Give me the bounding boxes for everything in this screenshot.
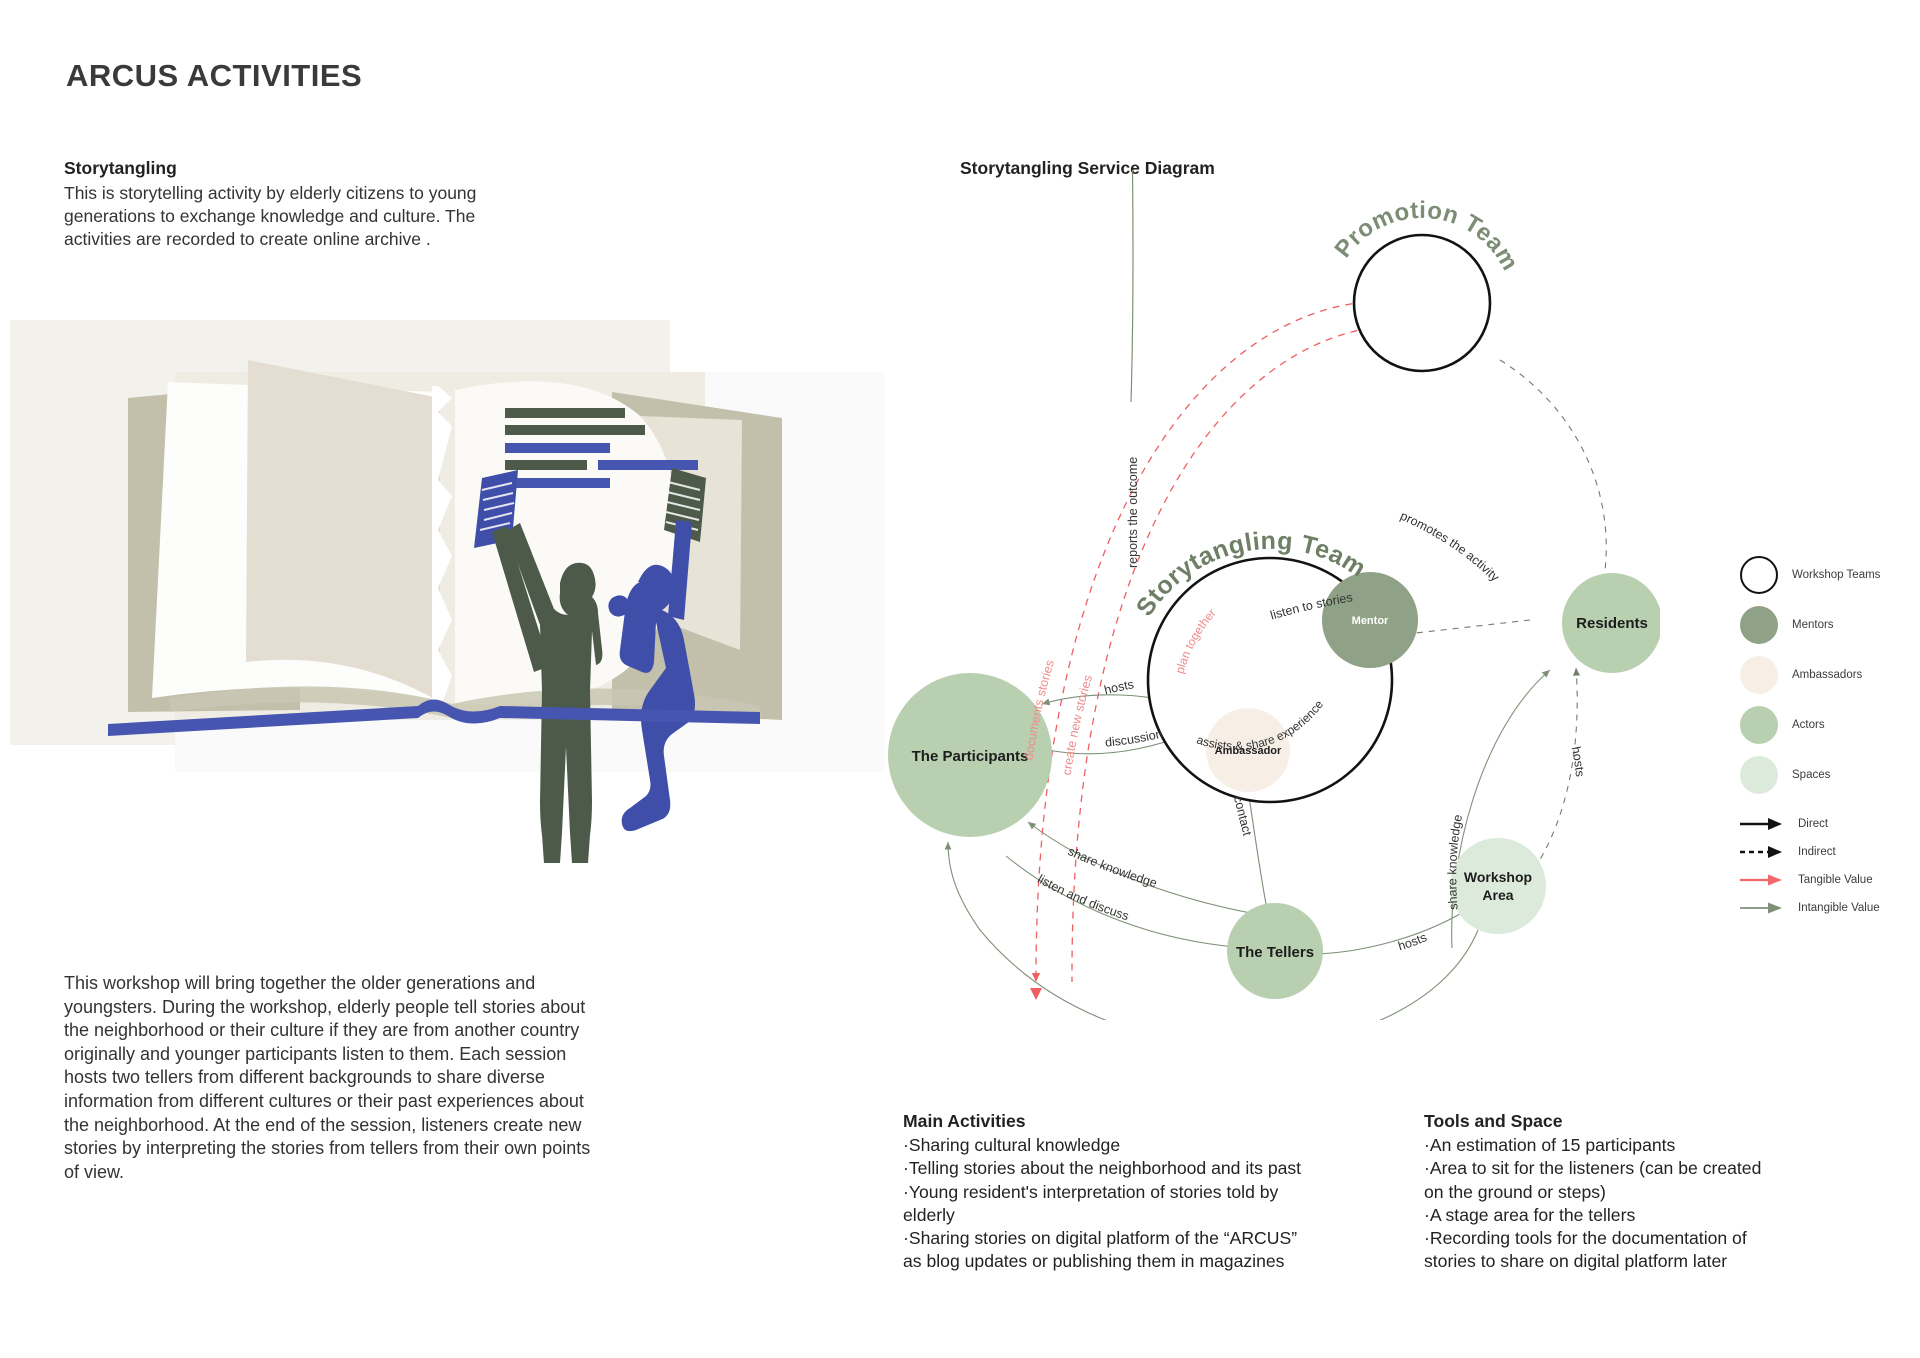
tools-and-space-block: Tools and Space ·An estimation of 15 par… xyxy=(1424,1110,1854,1273)
legend-item-spaces: Spaces xyxy=(1740,750,1920,800)
page-text-line-2 xyxy=(505,425,645,435)
legend-item-actors: Actors xyxy=(1740,700,1920,750)
edge-hosts-bottom-arc xyxy=(948,842,1478,1020)
arrow-indirect-icon xyxy=(1740,844,1784,860)
legend-item-mentors: Mentors xyxy=(1740,600,1920,650)
arrow-intangible-value-icon xyxy=(1740,900,1784,916)
legend-label-spaces: Spaces xyxy=(1792,769,1830,781)
storytangling-heading: Storytangling xyxy=(64,158,177,179)
legend-label-intangible-value: Intangible Value xyxy=(1798,902,1880,914)
edge-arrow-to-participants xyxy=(1030,988,1042,1000)
node-label-the-participants: The Participants xyxy=(912,748,1029,765)
legend-label-direct: Direct xyxy=(1798,818,1828,830)
edge-label-hosts-residents: hosts xyxy=(1569,745,1587,777)
legend-item-tangible-value: Tangible Value xyxy=(1740,866,1920,894)
legend-shapes: Workshop Teams Mentors Ambassadors Actor… xyxy=(1740,550,1920,800)
legend-swatch-mentors xyxy=(1740,606,1778,644)
edge-label-share-knowledge-tellers: share knowledge xyxy=(1066,844,1159,890)
arrow-tangible-value-icon xyxy=(1740,872,1784,888)
workshop-description: This workshop will bring together the ol… xyxy=(64,972,739,1184)
legend-item-workshop-teams: Workshop Teams xyxy=(1740,550,1920,600)
edge-share-knowledge-tellers xyxy=(1028,822,1256,914)
tools-and-space-list: ·An estimation of 15 participants ·Area … xyxy=(1424,1135,1761,1271)
page-text-line-3 xyxy=(505,443,610,453)
legend-label-indirect: Indirect xyxy=(1798,846,1836,858)
main-activities-list: ·Sharing cultural knowledge ·Telling sto… xyxy=(903,1135,1301,1271)
storytangling-illustration xyxy=(0,320,890,910)
edge-hosts-tellers xyxy=(1310,914,1460,954)
legend-arrows: Direct Indirect Tangible Value Intangibl… xyxy=(1740,810,1920,922)
node-workshop-area xyxy=(1450,838,1546,934)
edge-label-promotes-the-activity: promotes the activity xyxy=(1398,509,1502,585)
legend-label-actors: Actors xyxy=(1792,719,1825,731)
page-title: ARCUS ACTIVITIES xyxy=(66,58,362,94)
legend-label-mentors: Mentors xyxy=(1792,619,1834,631)
edge-reports-outcome xyxy=(1128,170,1133,402)
edge-label-discussion: discussion xyxy=(1104,727,1163,750)
poster-page: ARCUS ACTIVITIES Storytangling This is s… xyxy=(0,0,1920,1358)
node-label-the-tellers: The Tellers xyxy=(1236,944,1314,961)
page-text-line-6 xyxy=(505,478,610,488)
edge-label-listen-and-discuss: listen and discuss xyxy=(1035,872,1130,923)
legend-item-direct: Direct xyxy=(1740,810,1920,838)
storytangling-description: This is storytelling activity by elderly… xyxy=(64,182,604,251)
legend-swatch-workshop-teams xyxy=(1740,556,1778,594)
page-text-line-1 xyxy=(505,408,625,418)
legend-label-ambassadors: Ambassadors xyxy=(1792,669,1862,681)
edge-contact xyxy=(1248,790,1268,914)
legend-item-intangible-value: Intangible Value xyxy=(1740,894,1920,922)
legend-item-indirect: Indirect xyxy=(1740,838,1920,866)
edge-label-reports-the-outcome: reports the outcome xyxy=(1126,457,1140,568)
node-label-workshop-area-2: Area xyxy=(1482,887,1513,903)
node-label-mentor: Mentor xyxy=(1352,615,1389,627)
edge-label-hosts-tellers: hosts xyxy=(1396,930,1428,953)
legend-swatch-ambassadors xyxy=(1740,656,1778,694)
node-label-residents: Residents xyxy=(1576,615,1648,632)
node-label-workshop-area: Workshop xyxy=(1464,869,1532,885)
legend-label-workshop-teams: Workshop Teams xyxy=(1792,569,1880,581)
storytangling-service-diagram: Promotion Team Storytangling Team Mentor… xyxy=(860,170,1660,1020)
legend-item-ambassadors: Ambassadors xyxy=(1740,650,1920,700)
legend-swatch-spaces xyxy=(1740,756,1778,794)
book-page-left-shade xyxy=(246,360,440,702)
main-activities-block: Main Activities ·Sharing cultural knowle… xyxy=(903,1110,1413,1273)
edge-label-create-new-stories: create new stories xyxy=(1060,673,1095,776)
legend-label-tangible-value: Tangible Value xyxy=(1798,874,1873,886)
page-text-line-4 xyxy=(505,460,587,470)
edge-promotes-activity xyxy=(1500,360,1606,590)
tools-and-space-heading: Tools and Space xyxy=(1424,1110,1854,1133)
page-text-line-5 xyxy=(598,460,698,470)
main-activities-heading: Main Activities xyxy=(903,1110,1413,1133)
legend-swatch-actors xyxy=(1740,706,1778,744)
node-promotion-team xyxy=(1354,235,1490,371)
edge-label-hosts-participants: hosts xyxy=(1103,677,1135,697)
arrow-direct-icon xyxy=(1740,816,1784,832)
